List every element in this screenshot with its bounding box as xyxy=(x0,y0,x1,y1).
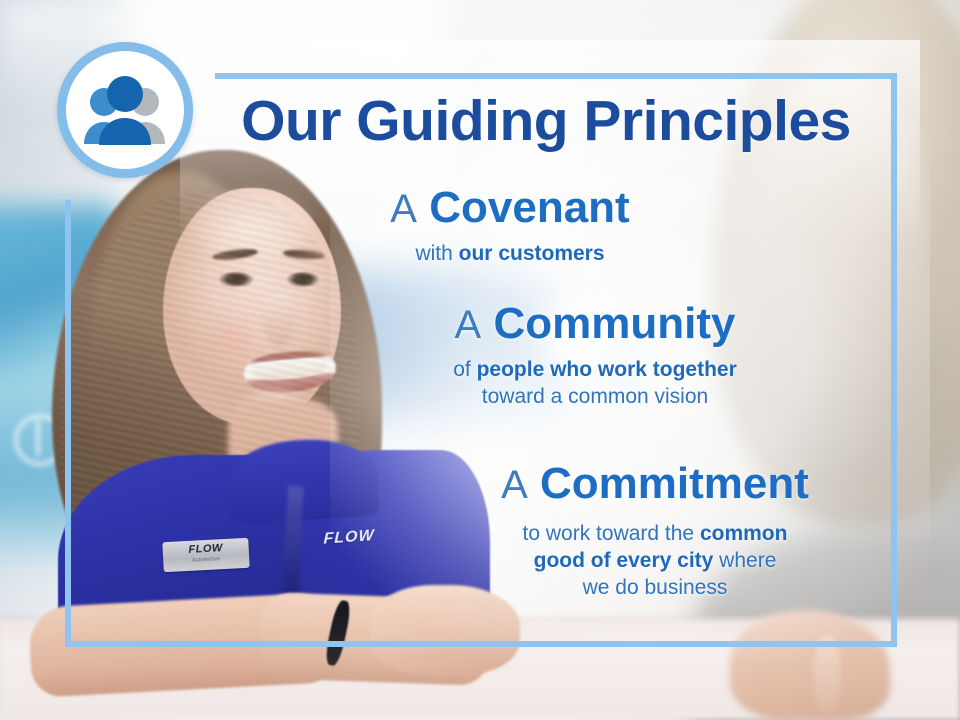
principle-covenant: A Covenant with our customers xyxy=(330,186,690,267)
principle-article: A xyxy=(455,303,482,347)
principle-subtext-line: toward a common vision xyxy=(390,383,800,410)
principle-word: Commitment xyxy=(540,459,809,508)
principle-subtext: to work toward the commongood of every c… xyxy=(445,520,865,602)
principle-word: Community xyxy=(493,299,735,348)
principle-commitment: A Commitment to work toward the commongo… xyxy=(445,462,865,602)
principle-community: A Community of people who work togethert… xyxy=(390,302,800,410)
page-title: Our Guiding Principles xyxy=(216,92,876,152)
principle-subtext-line: to work toward the common xyxy=(445,520,865,547)
principle-heading: A Covenant xyxy=(330,186,690,231)
principle-subtext-line: good of every city where xyxy=(445,547,865,574)
principle-subtext-line: we do business xyxy=(445,574,865,601)
principle-subtext-line: of people who work together xyxy=(390,356,800,383)
principle-article: A xyxy=(501,463,528,507)
principle-word: Covenant xyxy=(429,183,629,232)
principle-subtext: with our customers xyxy=(330,240,690,267)
guiding-principles-poster: FLOW FLOW Automotive xyxy=(0,0,960,720)
principle-subtext: of people who work togethertoward a comm… xyxy=(390,356,800,411)
principle-article: A xyxy=(390,187,417,231)
principle-heading: A Commitment xyxy=(445,462,865,507)
text-content: Our Guiding Principles A Covenant with o… xyxy=(0,0,960,720)
principle-subtext-line: with our customers xyxy=(330,240,690,267)
principle-heading: A Community xyxy=(390,302,800,347)
